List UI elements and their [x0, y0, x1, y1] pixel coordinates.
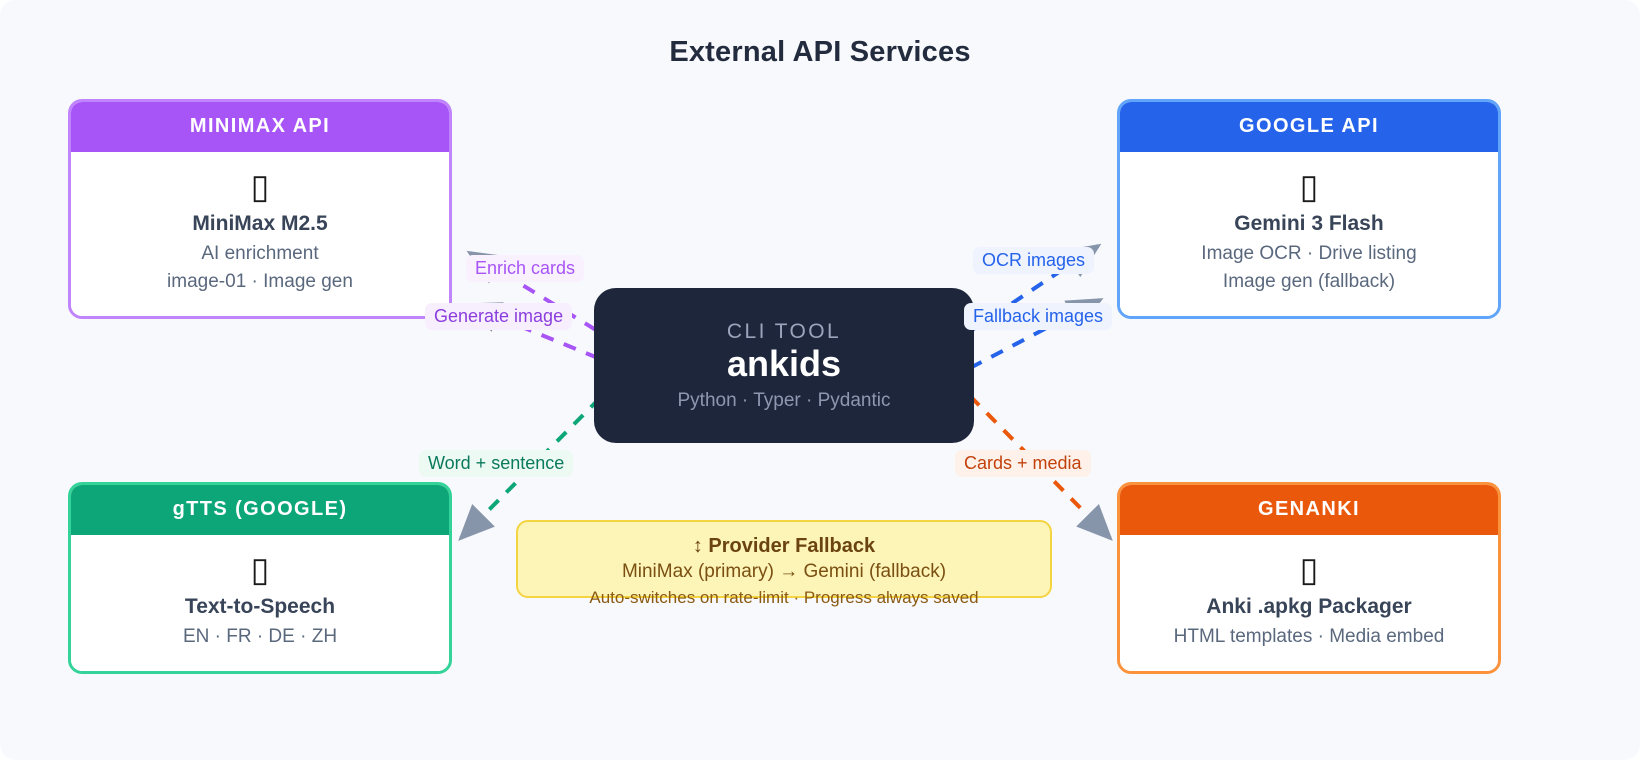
card-minimax-header: MINIMAX API	[71, 102, 449, 152]
cli-tool-node[interactable]: CLI TOOL ankids Python · Typer · Pydanti…	[594, 288, 974, 443]
robot-icon: ▯	[81, 164, 439, 210]
edge-label-cards-media: Cards + media	[955, 450, 1091, 477]
card-minimax-name: MiniMax M2.5	[81, 212, 439, 236]
card-minimax-api[interactable]: MINIMAX API ▯ MiniMax M2.5 AI enrichment…	[68, 99, 452, 319]
card-gtts-google[interactable]: gTTS (GOOGLE) ▯ Text-to-Speech EN · FR ·…	[68, 482, 452, 674]
diagram-canvas: External API Services MINIMAX API ▯ Mini…	[0, 0, 1640, 760]
provider-fallback-note: ↕ Provider Fallback MiniMax (primary) → …	[516, 520, 1052, 598]
card-genanki-desc: HTML templates · Media embed	[1130, 623, 1488, 651]
cli-tool-kicker: CLI TOOL	[594, 320, 974, 344]
card-google-body: ▯ Gemini 3 Flash Image OCR · Drive listi…	[1120, 152, 1498, 316]
sparkle-icon: ▯	[1130, 164, 1488, 210]
card-google-header: GOOGLE API	[1120, 102, 1498, 152]
page-title: External API Services	[0, 36, 1640, 69]
cli-tool-stack: Python · Typer · Pydantic	[594, 390, 974, 412]
card-google-desc-line2: Image gen (fallback)	[1130, 268, 1488, 296]
card-gtts-header: gTTS (GOOGLE)	[71, 485, 449, 535]
edge-label-word-sentence: Word + sentence	[419, 450, 573, 477]
package-icon: ▯	[1130, 547, 1488, 593]
provider-fallback-title: ↕ Provider Fallback	[518, 535, 1050, 558]
provider-fallback-line: MiniMax (primary) → Gemini (fallback)	[518, 558, 1050, 585]
speaker-icon: ▯	[81, 547, 439, 593]
card-minimax-desc-line1: AI enrichment	[81, 240, 439, 268]
card-genanki-header: GENANKI	[1120, 485, 1498, 535]
provider-fallback-sub: Auto-switches on rate-limit · Progress a…	[518, 585, 1050, 610]
card-gtts-desc: EN · FR · DE · ZH	[81, 623, 439, 651]
card-gtts-body: ▯ Text-to-Speech EN · FR · DE · ZH	[71, 535, 449, 671]
card-gtts-name: Text-to-Speech	[81, 595, 439, 619]
card-google-api[interactable]: GOOGLE API ▯ Gemini 3 Flash Image OCR · …	[1117, 99, 1501, 319]
card-google-name: Gemini 3 Flash	[1130, 212, 1488, 236]
card-minimax-desc-line2: image-01 · Image gen	[81, 268, 439, 296]
edge-label-fallback-images: Fallback images	[964, 303, 1112, 330]
card-genanki-body: ▯ Anki .apkg Packager HTML templates · M…	[1120, 535, 1498, 671]
card-genanki-desc-line1: HTML templates · Media embed	[1130, 623, 1488, 651]
card-minimax-desc: AI enrichment image-01 · Image gen	[81, 240, 439, 296]
edge-label-generate-image: Generate image	[425, 303, 572, 330]
card-google-desc: Image OCR · Drive listing Image gen (fal…	[1130, 240, 1488, 296]
card-genanki[interactable]: GENANKI ▯ Anki .apkg Packager HTML templ…	[1117, 482, 1501, 674]
card-gtts-desc-line1: EN · FR · DE · ZH	[81, 623, 439, 651]
edge-label-enrich-cards: Enrich cards	[466, 255, 584, 282]
card-genanki-name: Anki .apkg Packager	[1130, 595, 1488, 619]
cli-tool-name: ankids	[594, 343, 974, 385]
card-minimax-body: ▯ MiniMax M2.5 AI enrichment image-01 · …	[71, 152, 449, 316]
card-google-desc-line1: Image OCR · Drive listing	[1130, 240, 1488, 268]
edge-label-ocr-images: OCR images	[973, 247, 1094, 274]
